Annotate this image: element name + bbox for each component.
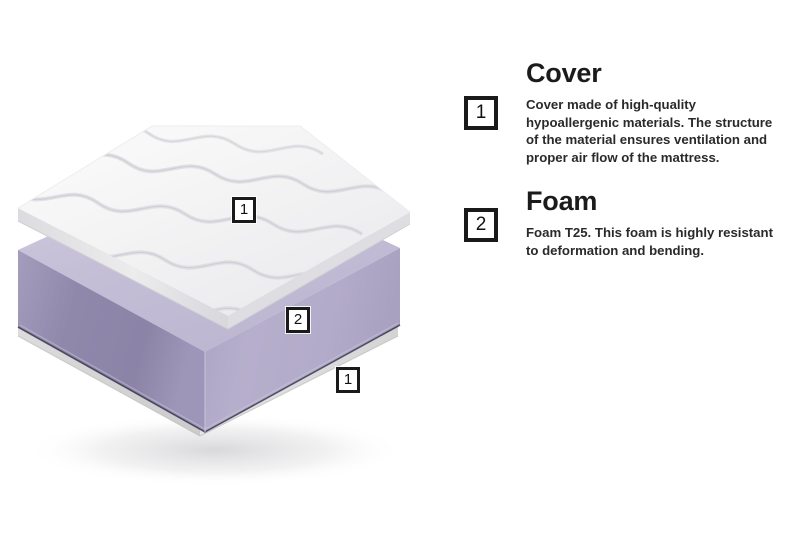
legend-entry-foam: 2 Foam Foam T25. This foam is highly res… [462, 186, 792, 259]
mattress-svg [0, 0, 450, 533]
mattress-illustration [0, 0, 450, 533]
marker-cover-base[interactable]: 1 [336, 367, 360, 393]
legend-body-cover: Cover made of high-quality hypoallergeni… [526, 96, 788, 166]
marker-cover-top[interactable]: 1 [232, 197, 256, 223]
legend-body-foam: Foam T25. This foam is highly resistant … [526, 224, 788, 259]
legend-badge-2: 2 [464, 208, 498, 242]
legend-text-foam: Foam Foam T25. This foam is highly resis… [526, 186, 792, 259]
legend-title-foam: Foam [526, 186, 792, 216]
legend-text-cover: Cover Cover made of high-quality hypoall… [526, 58, 792, 166]
marker-foam-side[interactable]: 2 [286, 307, 310, 333]
legend-title-cover: Cover [526, 58, 792, 88]
diagram-canvas: 1 2 1 1 Cover Cover made of high-quality… [0, 0, 800, 533]
legend-entry-cover: 1 Cover Cover made of high-quality hypoa… [462, 58, 792, 166]
legend-badge-1: 1 [464, 96, 498, 130]
legend-panel: 1 Cover Cover made of high-quality hypoa… [462, 58, 792, 279]
